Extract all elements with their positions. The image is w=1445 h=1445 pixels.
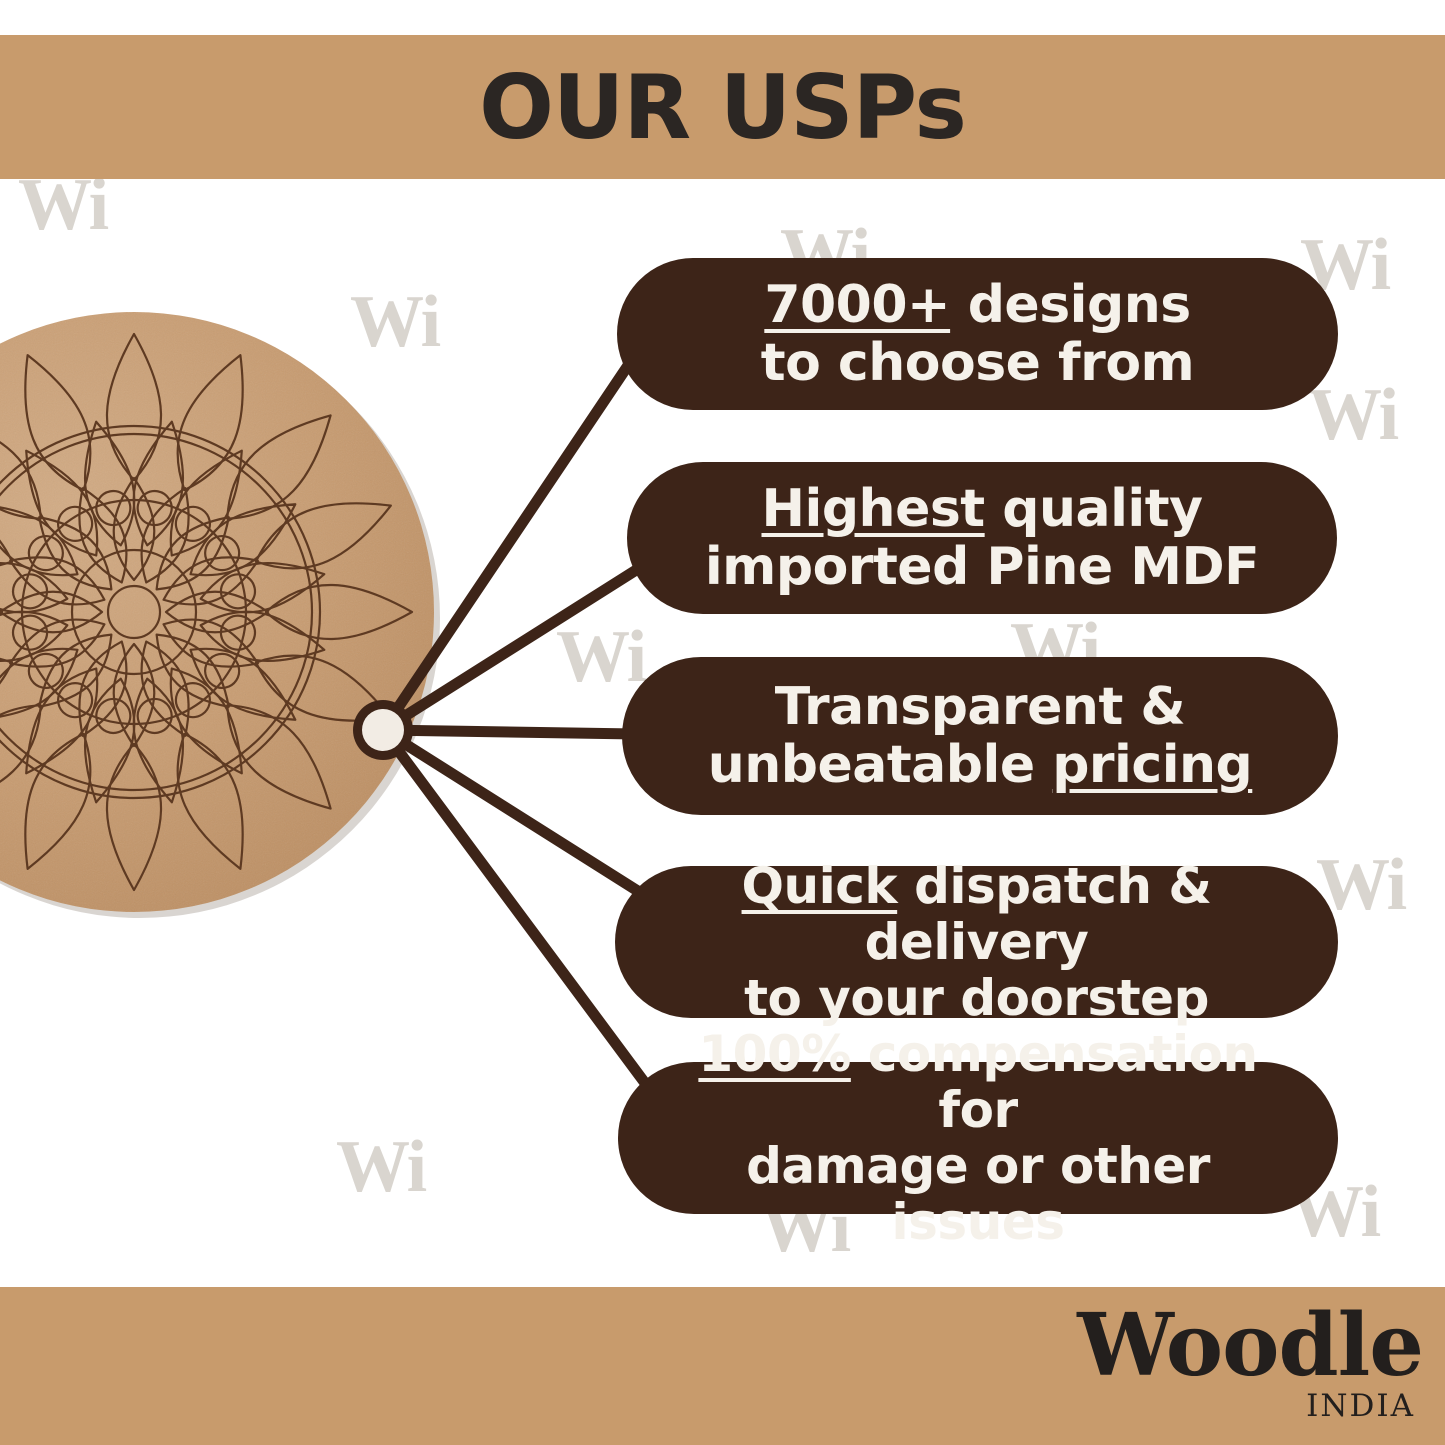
usp-highlight-compensation: 100% <box>698 1025 850 1083</box>
usp-line1-rest-designs: designs <box>950 275 1191 335</box>
usp-line1-rest-dispatch: dispatch & delivery <box>865 857 1212 971</box>
usp-highlight-quality: Highest <box>761 479 984 539</box>
usp-line2-quality: imported Pine MDF <box>705 537 1259 597</box>
usp-highlight-dispatch: Quick <box>742 857 898 915</box>
usp-text-designs: 7000+ designs to choose from <box>761 276 1194 392</box>
usp-line2-compensation: damage or other issues <box>746 1137 1210 1251</box>
usp-highlight-pricing: pricing <box>1052 735 1252 795</box>
usp-line2-designs: to choose from <box>761 333 1194 393</box>
page-title: OUR USPs <box>479 56 966 159</box>
product-mandala-image <box>0 298 448 926</box>
usp-text-pricing: Transparent & unbeatable pricing <box>708 678 1253 794</box>
infographic-canvas: Wi Wi Wi Wi Wi Wi Wi Wi Wi Wi Wi <box>0 0 1445 1445</box>
usp-line2-pre-pricing: unbeatable <box>708 735 1052 795</box>
usp-line2-dispatch: to your doorstep <box>744 969 1209 1027</box>
header-band: OUR USPs <box>0 35 1445 179</box>
usp-line1-pricing: Transparent & <box>775 677 1186 737</box>
usp-highlight-designs: 7000+ <box>764 275 950 335</box>
usp-pill-pricing[interactable]: Transparent & unbeatable pricing <box>622 657 1338 815</box>
brand-watermark: Wi <box>1308 378 1397 452</box>
footer-band: Woodle INDIA <box>0 1287 1445 1445</box>
brand-logo: Woodle INDIA <box>1077 1303 1423 1422</box>
brand-watermark: Wi <box>336 1130 425 1204</box>
usp-pill-compensation[interactable]: 100% compensation for damage or other is… <box>618 1062 1338 1214</box>
usp-line1-rest-quality: quality <box>985 479 1203 539</box>
usp-line1-rest-compensation: compensation for <box>851 1025 1258 1139</box>
usp-pill-quality[interactable]: Highest quality imported Pine MDF <box>627 462 1337 614</box>
usp-text-dispatch: Quick dispatch & delivery to your doorst… <box>649 858 1304 1026</box>
usp-pill-dispatch[interactable]: Quick dispatch & delivery to your doorst… <box>615 866 1338 1018</box>
brand-watermark: Wi <box>556 620 645 694</box>
usp-text-compensation: 100% compensation for damage or other is… <box>652 1026 1304 1250</box>
usp-text-quality: Highest quality imported Pine MDF <box>705 480 1259 596</box>
usp-pill-designs[interactable]: 7000+ designs to choose from <box>617 258 1338 410</box>
brand-wordmark: Woodle <box>1077 1303 1423 1389</box>
brand-watermark: Wi <box>18 168 107 242</box>
